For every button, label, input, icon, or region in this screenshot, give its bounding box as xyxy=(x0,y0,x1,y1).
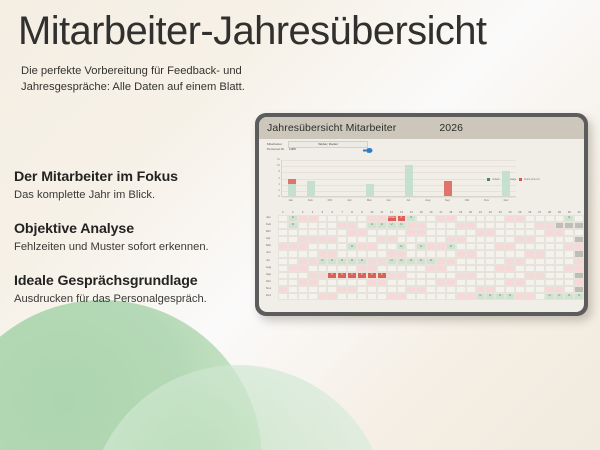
calendar-day-cell[interactable] xyxy=(357,229,367,236)
calendar-day-cell[interactable] xyxy=(436,293,446,300)
calendar-day-cell[interactable] xyxy=(485,279,495,286)
calendar-day-cell[interactable] xyxy=(535,236,545,243)
calendar-day-cell[interactable] xyxy=(406,272,416,279)
calendar-day-cell[interactable] xyxy=(545,236,555,243)
calendar-day-cell[interactable] xyxy=(406,236,416,243)
calendar-day-cell[interactable] xyxy=(318,243,328,250)
calendar-day-cell[interactable] xyxy=(545,222,555,229)
calendar-day-cell[interactable] xyxy=(525,279,535,286)
calendar-day-cell[interactable] xyxy=(377,243,387,250)
calendar-day-cell[interactable] xyxy=(387,265,397,272)
calendar-day-cell[interactable] xyxy=(337,215,347,222)
calendar-day-cell[interactable] xyxy=(446,293,456,300)
calendar-day-cell[interactable] xyxy=(545,265,555,272)
calendar-day-cell[interactable] xyxy=(476,279,486,286)
calendar-day-cell[interactable] xyxy=(535,265,545,272)
calendar-day-cell[interactable] xyxy=(357,293,367,300)
calendar-day-cell[interactable] xyxy=(495,236,505,243)
calendar-day-cell[interactable] xyxy=(505,243,515,250)
calendar-day-cell[interactable] xyxy=(298,236,308,243)
calendar-day-cell[interactable] xyxy=(278,265,288,272)
calendar-day-cell[interactable] xyxy=(505,286,515,293)
calendar-day-cell[interactable] xyxy=(555,272,565,279)
calendar-day-cell[interactable] xyxy=(416,279,426,286)
calendar-day-cell[interactable] xyxy=(327,293,337,300)
calendar-day-cell[interactable] xyxy=(485,229,495,236)
calendar-day-cell[interactable] xyxy=(308,286,318,293)
calendar-day-cell[interactable]: U xyxy=(495,293,505,300)
calendar-day-cell[interactable] xyxy=(318,272,328,279)
calendar-day-cell[interactable]: K xyxy=(337,272,347,279)
calendar-day-cell[interactable] xyxy=(456,236,466,243)
calendar-day-cell[interactable] xyxy=(337,293,347,300)
calendar-day-cell[interactable] xyxy=(505,250,515,257)
calendar-day-cell[interactable] xyxy=(476,229,486,236)
calendar-day-cell[interactable] xyxy=(495,258,505,265)
calendar-day-cell[interactable] xyxy=(574,229,584,236)
calendar-day-cell[interactable] xyxy=(485,222,495,229)
calendar-day-cell[interactable] xyxy=(476,265,486,272)
calendar-day-cell[interactable] xyxy=(515,250,525,257)
calendar-day-cell[interactable] xyxy=(318,286,328,293)
calendar-day-cell[interactable] xyxy=(406,229,416,236)
calendar-day-cell[interactable] xyxy=(308,236,318,243)
calendar-day-cell[interactable] xyxy=(367,258,377,265)
calendar-day-cell[interactable] xyxy=(446,286,456,293)
calendar-day-cell[interactable] xyxy=(515,236,525,243)
calendar-day-cell[interactable] xyxy=(555,215,565,222)
calendar-day-cell[interactable] xyxy=(426,265,436,272)
calendar-day-cell[interactable] xyxy=(564,236,574,243)
calendar-day-cell[interactable] xyxy=(367,293,377,300)
calendar-day-cell[interactable] xyxy=(426,236,436,243)
calendar-day-cell[interactable] xyxy=(564,272,574,279)
calendar-day-cell[interactable] xyxy=(515,258,525,265)
calendar-day-cell[interactable] xyxy=(555,279,565,286)
calendar-day-cell[interactable] xyxy=(446,236,456,243)
calendar-day-cell[interactable] xyxy=(476,243,486,250)
calendar-day-cell[interactable] xyxy=(485,215,495,222)
calendar-day-cell[interactable] xyxy=(574,222,584,229)
calendar-day-cell[interactable] xyxy=(466,215,476,222)
calendar-day-cell[interactable] xyxy=(308,215,318,222)
calendar-day-cell[interactable] xyxy=(288,236,298,243)
calendar-day-cell[interactable] xyxy=(555,222,565,229)
calendar-day-cell[interactable] xyxy=(367,286,377,293)
calendar-day-cell[interactable]: U xyxy=(337,258,347,265)
calendar-day-cell[interactable] xyxy=(278,215,288,222)
calendar-day-cell[interactable] xyxy=(446,222,456,229)
calendar-day-cell[interactable]: K xyxy=(347,272,357,279)
calendar-day-cell[interactable] xyxy=(525,272,535,279)
calendar-day-cell[interactable] xyxy=(456,229,466,236)
calendar-day-cell[interactable] xyxy=(436,215,446,222)
calendar-day-cell[interactable] xyxy=(515,293,525,300)
calendar-day-cell[interactable]: U xyxy=(347,258,357,265)
calendar-day-cell[interactable]: U xyxy=(387,222,397,229)
calendar-day-cell[interactable] xyxy=(357,279,367,286)
calendar-day-cell[interactable]: U xyxy=(564,215,574,222)
calendar-day-cell[interactable] xyxy=(357,222,367,229)
calendar-day-cell[interactable] xyxy=(406,293,416,300)
calendar-day-cell[interactable] xyxy=(505,265,515,272)
calendar-day-cell[interactable] xyxy=(535,229,545,236)
calendar-day-cell[interactable] xyxy=(545,279,555,286)
calendar-day-cell[interactable] xyxy=(446,250,456,257)
calendar-day-cell[interactable]: KO/AU xyxy=(387,215,397,222)
calendar-day-cell[interactable] xyxy=(555,250,565,257)
calendar-day-cell[interactable] xyxy=(564,286,574,293)
calendar-day-cell[interactable] xyxy=(387,250,397,257)
calendar-day-cell[interactable] xyxy=(564,222,574,229)
calendar-day-cell[interactable] xyxy=(308,222,318,229)
calendar-day-cell[interactable] xyxy=(426,229,436,236)
calendar-day-cell[interactable] xyxy=(555,243,565,250)
calendar-day-cell[interactable] xyxy=(466,279,476,286)
calendar-day-cell[interactable] xyxy=(426,293,436,300)
calendar-day-cell[interactable] xyxy=(574,272,584,279)
calendar-day-cell[interactable] xyxy=(337,265,347,272)
calendar-day-cell[interactable] xyxy=(347,293,357,300)
calendar-day-cell[interactable] xyxy=(278,243,288,250)
calendar-day-cell[interactable] xyxy=(337,286,347,293)
calendar-day-cell[interactable] xyxy=(367,279,377,286)
calendar-day-cell[interactable] xyxy=(377,265,387,272)
calendar-day-cell[interactable] xyxy=(476,286,486,293)
calendar-day-cell[interactable] xyxy=(278,258,288,265)
calendar-day-cell[interactable] xyxy=(525,286,535,293)
calendar-day-cell[interactable] xyxy=(357,243,367,250)
calendar-day-cell[interactable]: U xyxy=(426,258,436,265)
calendar-day-cell[interactable] xyxy=(535,250,545,257)
calendar-day-cell[interactable] xyxy=(308,229,318,236)
calendar-day-cell[interactable]: U xyxy=(377,222,387,229)
calendar-day-cell[interactable] xyxy=(456,222,466,229)
calendar-day-cell[interactable] xyxy=(298,229,308,236)
calendar-day-cell[interactable] xyxy=(337,250,347,257)
calendar-day-cell[interactable] xyxy=(298,250,308,257)
calendar-day-cell[interactable] xyxy=(555,286,565,293)
calendar-day-cell[interactable] xyxy=(377,236,387,243)
calendar-day-cell[interactable] xyxy=(288,279,298,286)
calendar-day-cell[interactable] xyxy=(347,279,357,286)
calendar-day-cell[interactable] xyxy=(278,279,288,286)
calendar-day-cell[interactable] xyxy=(476,236,486,243)
calendar-day-cell[interactable] xyxy=(288,258,298,265)
calendar-day-cell[interactable] xyxy=(466,229,476,236)
calendar-day-cell[interactable] xyxy=(377,250,387,257)
calendar-day-cell[interactable] xyxy=(476,272,486,279)
calendar-day-cell[interactable] xyxy=(377,293,387,300)
calendar-day-cell[interactable] xyxy=(308,272,318,279)
calendar-day-cell[interactable] xyxy=(367,243,377,250)
calendar-day-cell[interactable]: U xyxy=(555,293,565,300)
calendar-day-cell[interactable] xyxy=(535,272,545,279)
calendar-day-cell[interactable]: U xyxy=(406,215,416,222)
calendar-day-cell[interactable]: K xyxy=(377,272,387,279)
calendar-day-cell[interactable] xyxy=(318,265,328,272)
calendar-day-cell[interactable] xyxy=(564,229,574,236)
calendar-day-cell[interactable] xyxy=(456,258,466,265)
calendar-day-cell[interactable] xyxy=(288,286,298,293)
calendar-day-cell[interactable] xyxy=(525,222,535,229)
calendar-day-cell[interactable] xyxy=(416,229,426,236)
calendar-day-cell[interactable] xyxy=(564,243,574,250)
calendar-day-cell[interactable] xyxy=(525,243,535,250)
calendar-day-cell[interactable] xyxy=(327,229,337,236)
calendar-day-cell[interactable] xyxy=(466,286,476,293)
calendar-day-cell[interactable] xyxy=(446,229,456,236)
calendar-day-cell[interactable] xyxy=(397,293,407,300)
calendar-day-cell[interactable] xyxy=(337,279,347,286)
calendar-day-cell[interactable]: K xyxy=(327,272,337,279)
employee-name-field[interactable]: Weber, Daniel xyxy=(288,141,368,147)
calendar-day-cell[interactable] xyxy=(357,250,367,257)
calendar-day-cell[interactable]: K xyxy=(367,272,377,279)
calendar-day-cell[interactable] xyxy=(564,279,574,286)
calendar-day-cell[interactable] xyxy=(515,215,525,222)
calendar-day-cell[interactable] xyxy=(288,243,298,250)
calendar-day-cell[interactable] xyxy=(535,222,545,229)
calendar-day-cell[interactable] xyxy=(278,272,288,279)
calendar-day-cell[interactable] xyxy=(298,286,308,293)
calendar-day-cell[interactable] xyxy=(535,243,545,250)
calendar-day-cell[interactable] xyxy=(436,236,446,243)
calendar-day-cell[interactable] xyxy=(337,243,347,250)
calendar-day-cell[interactable] xyxy=(426,250,436,257)
calendar-day-cell[interactable] xyxy=(495,272,505,279)
calendar-day-cell[interactable] xyxy=(555,265,565,272)
calendar-day-cell[interactable] xyxy=(367,229,377,236)
calendar-day-cell[interactable] xyxy=(466,293,476,300)
calendar-day-cell[interactable] xyxy=(288,272,298,279)
calendar-day-cell[interactable] xyxy=(505,222,515,229)
calendar-day-cell[interactable] xyxy=(318,236,328,243)
calendar-day-cell[interactable] xyxy=(406,250,416,257)
calendar-day-cell[interactable] xyxy=(416,215,426,222)
calendar-day-cell[interactable] xyxy=(347,250,357,257)
calendar-day-cell[interactable]: U xyxy=(397,258,407,265)
calendar-day-cell[interactable] xyxy=(456,250,466,257)
calendar-day-cell[interactable] xyxy=(377,229,387,236)
calendar-day-cell[interactable] xyxy=(446,272,456,279)
calendar-day-cell[interactable] xyxy=(416,250,426,257)
calendar-day-cell[interactable] xyxy=(298,258,308,265)
calendar-day-cell[interactable] xyxy=(337,222,347,229)
calendar-day-cell[interactable] xyxy=(446,215,456,222)
calendar-day-cell[interactable] xyxy=(416,236,426,243)
calendar-day-cell[interactable]: U xyxy=(367,222,377,229)
calendar-day-cell[interactable] xyxy=(308,258,318,265)
calendar-day-cell[interactable] xyxy=(505,272,515,279)
calendar-day-cell[interactable] xyxy=(436,229,446,236)
calendar-day-cell[interactable] xyxy=(535,286,545,293)
calendar-day-cell[interactable] xyxy=(436,279,446,286)
calendar-day-cell[interactable] xyxy=(545,215,555,222)
calendar-day-cell[interactable] xyxy=(564,258,574,265)
calendar-day-cell[interactable] xyxy=(545,286,555,293)
calendar-day-cell[interactable] xyxy=(288,229,298,236)
calendar-day-cell[interactable] xyxy=(357,236,367,243)
calendar-day-cell[interactable] xyxy=(485,265,495,272)
calendar-day-cell[interactable] xyxy=(377,279,387,286)
calendar-day-cell[interactable] xyxy=(406,286,416,293)
calendar-day-cell[interactable]: U xyxy=(387,258,397,265)
calendar-day-cell[interactable] xyxy=(525,250,535,257)
calendar-day-cell[interactable] xyxy=(495,265,505,272)
calendar-day-cell[interactable] xyxy=(377,286,387,293)
calendar-day-cell[interactable]: U xyxy=(397,243,407,250)
calendar-day-cell[interactable] xyxy=(387,279,397,286)
calendar-day-cell[interactable] xyxy=(308,250,318,257)
calendar-day-cell[interactable] xyxy=(545,272,555,279)
calendar-day-cell[interactable] xyxy=(495,243,505,250)
calendar-day-cell[interactable] xyxy=(387,236,397,243)
calendar-day-cell[interactable] xyxy=(495,215,505,222)
calendar-day-cell[interactable]: U xyxy=(446,243,456,250)
calendar-day-cell[interactable] xyxy=(278,222,288,229)
calendar-day-cell[interactable] xyxy=(505,258,515,265)
calendar-day-cell[interactable] xyxy=(416,222,426,229)
calendar-day-cell[interactable] xyxy=(495,279,505,286)
calendar-day-cell[interactable] xyxy=(406,279,416,286)
calendar-day-cell[interactable] xyxy=(406,265,416,272)
calendar-day-cell[interactable] xyxy=(298,215,308,222)
calendar-day-cell[interactable] xyxy=(327,250,337,257)
calendar-day-cell[interactable] xyxy=(426,243,436,250)
calendar-day-cell[interactable] xyxy=(318,215,328,222)
calendar-day-cell[interactable] xyxy=(308,265,318,272)
calendar-day-cell[interactable] xyxy=(377,215,387,222)
calendar-day-cell[interactable] xyxy=(564,250,574,257)
calendar-day-cell[interactable] xyxy=(466,222,476,229)
calendar-day-cell[interactable] xyxy=(456,286,466,293)
calendar-day-cell[interactable] xyxy=(466,265,476,272)
calendar-day-cell[interactable] xyxy=(446,258,456,265)
calendar-day-cell[interactable]: U xyxy=(505,293,515,300)
calendar-day-cell[interactable] xyxy=(436,222,446,229)
calendar-day-cell[interactable]: U xyxy=(397,222,407,229)
calendar-day-cell[interactable] xyxy=(456,265,466,272)
calendar-day-cell[interactable] xyxy=(505,279,515,286)
calendar-day-cell[interactable] xyxy=(485,236,495,243)
calendar-day-cell[interactable] xyxy=(545,229,555,236)
calendar-day-cell[interactable] xyxy=(318,279,328,286)
calendar-day-cell[interactable] xyxy=(347,215,357,222)
calendar-day-cell[interactable] xyxy=(495,286,505,293)
calendar-day-cell[interactable] xyxy=(436,286,446,293)
calendar-day-cell[interactable] xyxy=(278,250,288,257)
calendar-day-cell[interactable] xyxy=(456,243,466,250)
calendar-day-cell[interactable] xyxy=(298,243,308,250)
calendar-day-cell[interactable] xyxy=(347,236,357,243)
calendar-day-cell[interactable] xyxy=(535,279,545,286)
calendar-day-cell[interactable] xyxy=(357,215,367,222)
calendar-day-cell[interactable] xyxy=(485,286,495,293)
calendar-day-cell[interactable] xyxy=(525,293,535,300)
calendar-day-cell[interactable] xyxy=(495,250,505,257)
calendar-day-cell[interactable] xyxy=(288,250,298,257)
calendar-day-cell[interactable] xyxy=(426,222,436,229)
calendar-day-cell[interactable] xyxy=(574,286,584,293)
calendar-day-cell[interactable] xyxy=(327,286,337,293)
calendar-day-cell[interactable] xyxy=(327,243,337,250)
calendar-day-cell[interactable] xyxy=(456,272,466,279)
calendar-day-cell[interactable] xyxy=(515,243,525,250)
calendar-day-cell[interactable] xyxy=(337,229,347,236)
calendar-day-cell[interactable] xyxy=(555,229,565,236)
calendar-day-cell[interactable] xyxy=(347,229,357,236)
calendar-day-cell[interactable] xyxy=(456,279,466,286)
calendar-day-cell[interactable]: U xyxy=(406,258,416,265)
calendar-day-cell[interactable] xyxy=(574,215,584,222)
calendar-day-cell[interactable] xyxy=(416,286,426,293)
calendar-day-cell[interactable] xyxy=(387,286,397,293)
calendar-day-cell[interactable] xyxy=(545,243,555,250)
calendar-day-cell[interactable] xyxy=(456,215,466,222)
calendar-day-cell[interactable] xyxy=(298,279,308,286)
calendar-day-cell[interactable] xyxy=(574,265,584,272)
calendar-day-cell[interactable] xyxy=(574,250,584,257)
calendar-day-cell[interactable] xyxy=(387,272,397,279)
calendar-day-cell[interactable] xyxy=(288,265,298,272)
calendar-day-cell[interactable] xyxy=(367,236,377,243)
calendar-day-cell[interactable] xyxy=(397,229,407,236)
calendar-day-cell[interactable] xyxy=(318,229,328,236)
calendar-day-cell[interactable] xyxy=(278,293,288,300)
calendar-day-cell[interactable] xyxy=(397,250,407,257)
calendar-day-cell[interactable] xyxy=(515,222,525,229)
calendar-day-cell[interactable] xyxy=(466,272,476,279)
calendar-day-cell[interactable] xyxy=(446,279,456,286)
calendar-day-cell[interactable]: U xyxy=(416,243,426,250)
calendar-day-cell[interactable] xyxy=(515,279,525,286)
calendar-day-cell[interactable] xyxy=(466,243,476,250)
calendar-day-cell[interactable]: U xyxy=(476,293,486,300)
calendar-day-cell[interactable]: U xyxy=(347,243,357,250)
calendar-day-cell[interactable] xyxy=(406,243,416,250)
calendar-day-cell[interactable] xyxy=(466,236,476,243)
calendar-day-cell[interactable] xyxy=(555,236,565,243)
calendar-day-cell[interactable]: U xyxy=(416,258,426,265)
calendar-day-cell[interactable] xyxy=(436,272,446,279)
calendar-day-cell[interactable] xyxy=(505,236,515,243)
calendar-day-cell[interactable] xyxy=(515,286,525,293)
calendar-day-cell[interactable] xyxy=(485,258,495,265)
calendar-day-cell[interactable] xyxy=(466,258,476,265)
calendar-day-cell[interactable] xyxy=(397,272,407,279)
calendar-day-cell[interactable] xyxy=(515,272,525,279)
calendar-day-cell[interactable] xyxy=(357,286,367,293)
calendar-day-cell[interactable] xyxy=(387,293,397,300)
calendar-day-cell[interactable] xyxy=(337,236,347,243)
calendar-day-cell[interactable] xyxy=(525,229,535,236)
calendar-day-cell[interactable] xyxy=(298,272,308,279)
calendar-day-cell[interactable] xyxy=(327,236,337,243)
calendar-day-cell[interactable] xyxy=(555,258,565,265)
calendar-day-cell[interactable]: U xyxy=(327,258,337,265)
calendar-day-cell[interactable] xyxy=(574,243,584,250)
calendar-day-cell[interactable] xyxy=(426,286,436,293)
calendar-day-cell[interactable]: U xyxy=(288,222,298,229)
calendar-day-cell[interactable] xyxy=(436,243,446,250)
calendar-day-cell[interactable] xyxy=(485,250,495,257)
calendar-day-cell[interactable] xyxy=(278,286,288,293)
calendar-day-cell[interactable] xyxy=(525,215,535,222)
calendar-day-cell[interactable] xyxy=(525,258,535,265)
calendar-day-cell[interactable] xyxy=(288,293,298,300)
calendar-day-cell[interactable] xyxy=(564,265,574,272)
